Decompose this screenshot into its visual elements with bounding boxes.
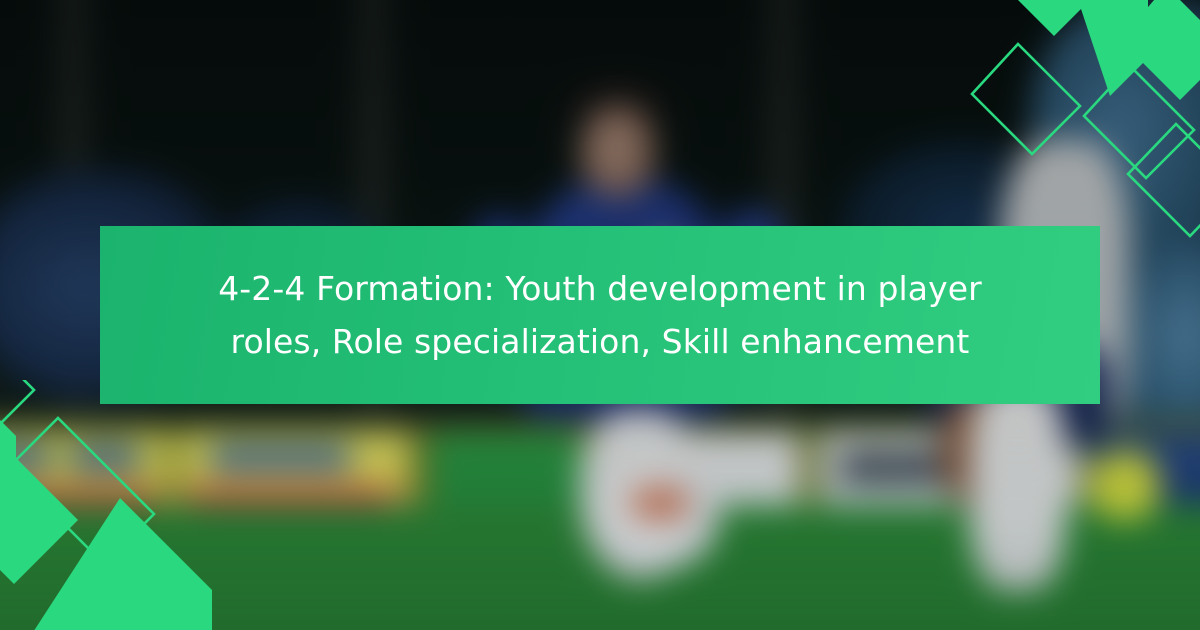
- title-banner: 4-2-4 Formation: Youth development in pl…: [100, 226, 1100, 404]
- page-title: 4-2-4 Formation: Youth development in pl…: [218, 262, 982, 369]
- social-card: 4-2-4 Formation: Youth development in pl…: [0, 0, 1200, 630]
